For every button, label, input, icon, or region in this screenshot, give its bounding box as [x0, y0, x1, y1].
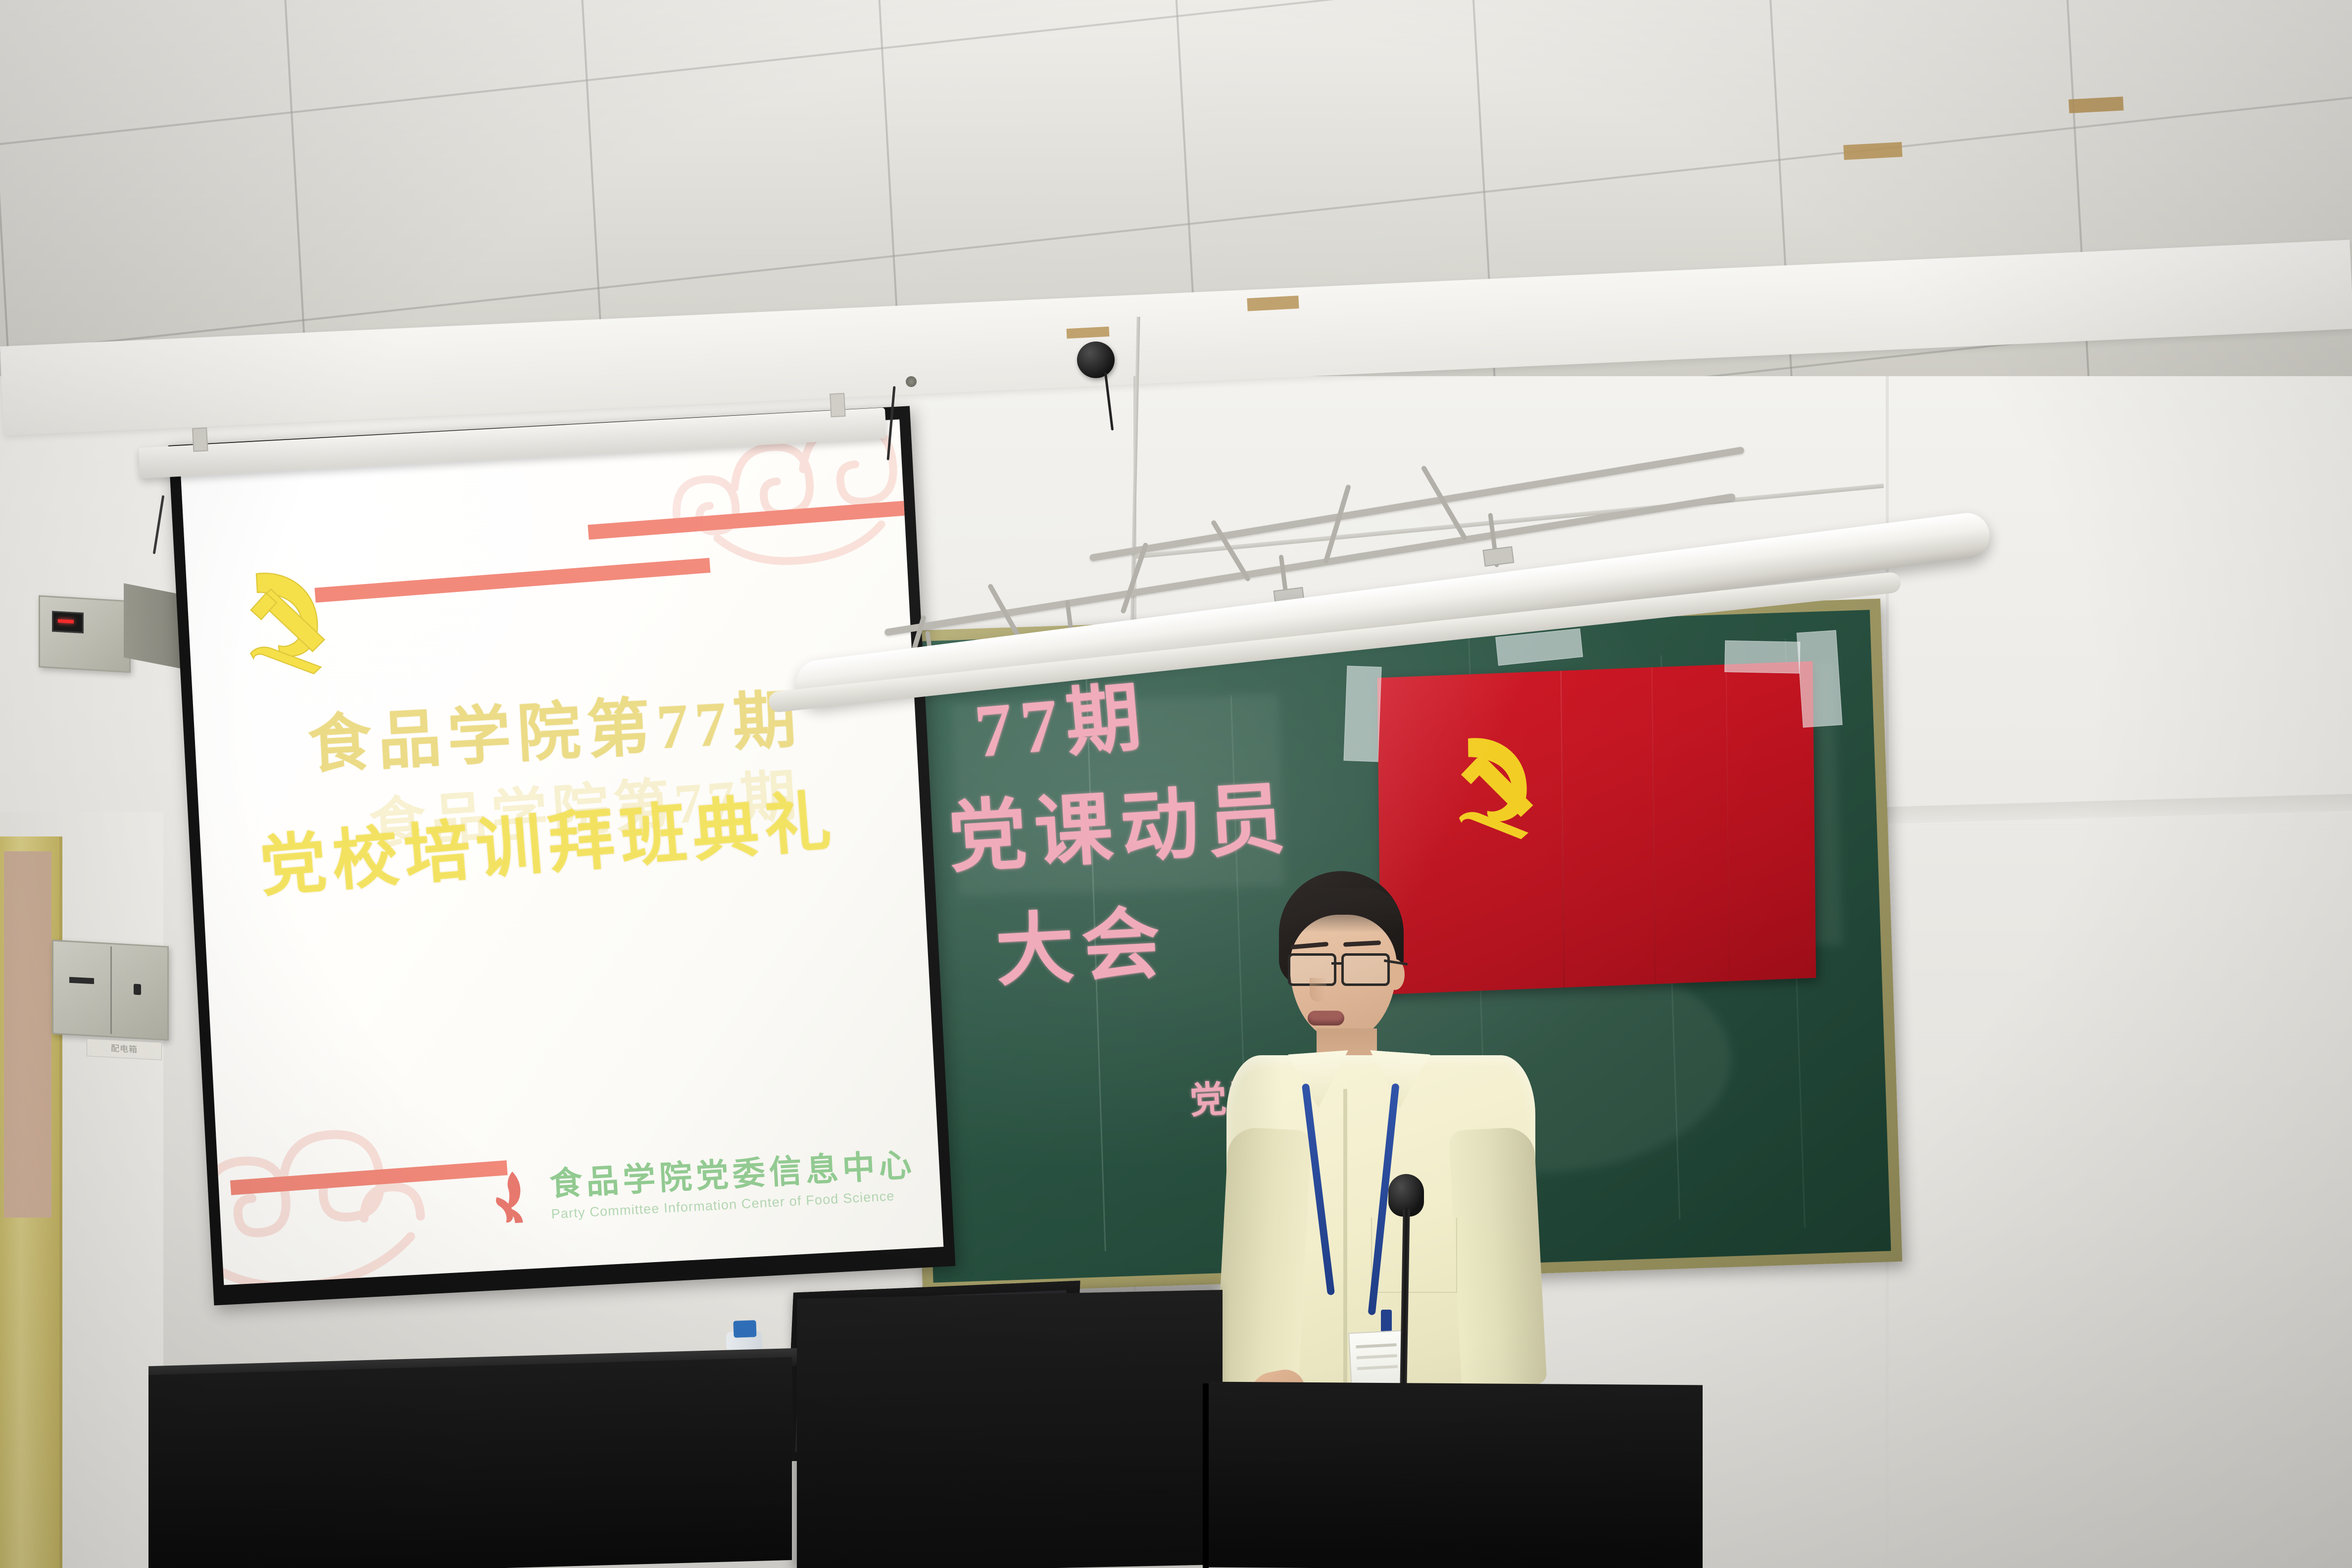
wall-speaker-icon [1077, 342, 1115, 378]
flag-hammer-and-sickle-icon [1433, 717, 1559, 845]
slide-logo: 食品学院党委信息中心 Party Committee Information C… [492, 1138, 918, 1225]
eyeglasses-icon [1286, 950, 1403, 985]
blackboard-text-line2: 党课动员 [945, 754, 1295, 888]
nose [1310, 978, 1326, 1002]
lanyard-clip [1381, 1310, 1392, 1332]
slide-title-ghost: 食品学院第77期 [242, 753, 929, 868]
control-box-upper-side [124, 583, 183, 669]
speaker-person [1223, 871, 1539, 1460]
left-arm [1214, 1127, 1312, 1408]
panel-vent-slot [69, 977, 94, 984]
right-arm [1449, 1127, 1547, 1388]
desk-right[interactable] [1208, 1382, 1703, 1568]
control-box-led-display [52, 611, 84, 634]
door-glass-panel [4, 851, 51, 1218]
screen-bracket-right [830, 393, 846, 418]
lectern[interactable] [797, 1290, 1223, 1568]
classroom-photo-scene: 配电箱 [0, 0, 2352, 1568]
logo-bird-icon [492, 1169, 541, 1225]
desk-left[interactable] [148, 1357, 792, 1568]
blackboard-text-line3: 大会 [992, 880, 1170, 1001]
ceiling-anchor [906, 376, 917, 387]
adhesive-tape [1797, 630, 1843, 728]
hair-fringe [1282, 888, 1401, 932]
bottle-cap [733, 1320, 756, 1338]
adhesive-tape [1724, 640, 1800, 674]
distribution-panel[interactable] [52, 939, 169, 1040]
mouth [1308, 1011, 1344, 1026]
wall-tag [1247, 295, 1299, 311]
wall-tag [2068, 97, 2123, 113]
panel-lock-knob[interactable] [134, 984, 141, 995]
auspicious-cloud-icon [180, 1105, 458, 1285]
wall-tag [1843, 142, 1902, 160]
screen-bracket-left [192, 427, 208, 452]
hammer-and-sickle-icon [221, 550, 351, 681]
slide-title-line2: 党校培训拜班典礼 [186, 777, 911, 913]
control-box-upper[interactable] [39, 595, 131, 673]
desk-seam [1203, 1383, 1209, 1568]
logo-text-block: 食品学院党委信息中心 Party Committee Information C… [548, 1138, 918, 1222]
accent-bar-second [314, 558, 710, 603]
adhesive-tape [1344, 666, 1382, 762]
